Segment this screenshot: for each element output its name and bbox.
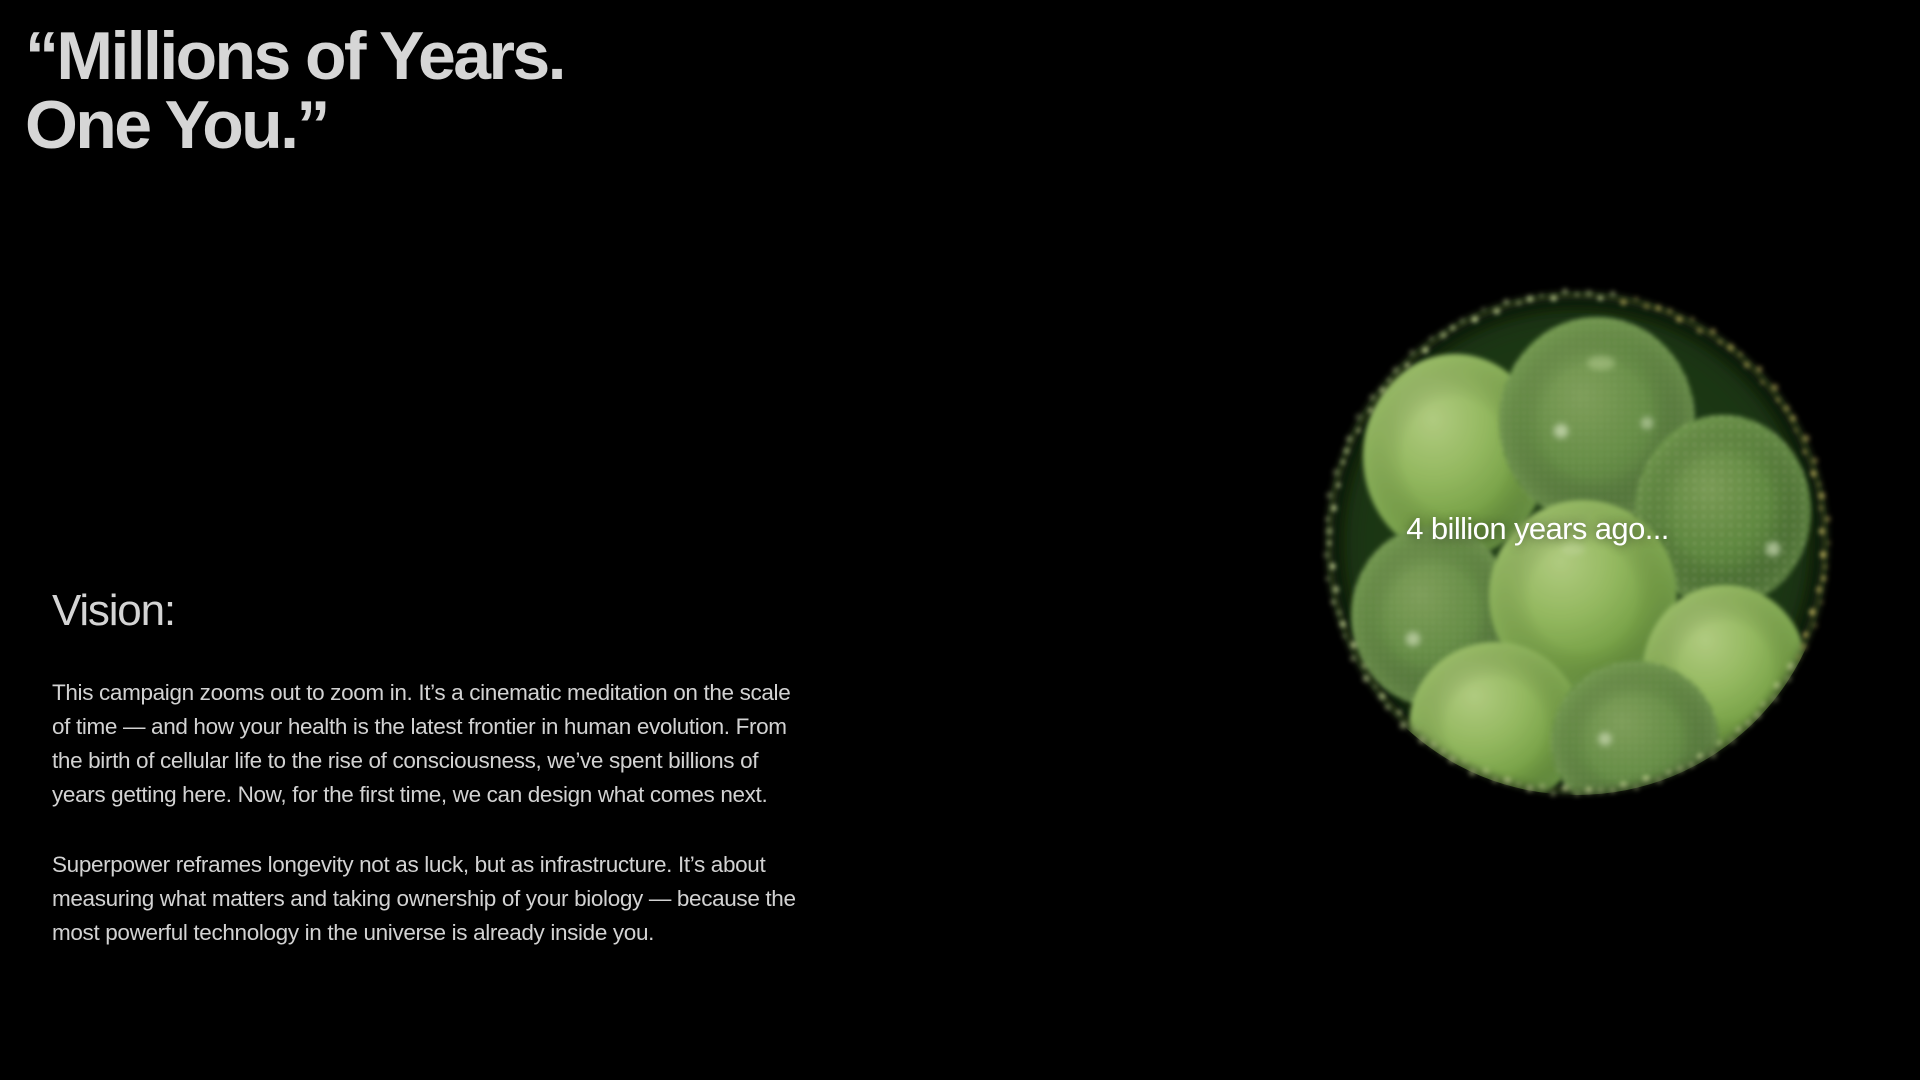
volvox-colony-image xyxy=(1305,271,1850,831)
vision-copy-block: Vision: This campaign zooms out to zoom … xyxy=(52,588,812,950)
volvox-colony-svg xyxy=(1305,271,1850,831)
vision-paragraph-2: Superpower reframes longevity not as luc… xyxy=(52,848,797,950)
vision-section-title: Vision: xyxy=(52,588,812,634)
page-title: “Millions of Years. One You.” xyxy=(25,22,925,161)
vision-paragraph-1: This campaign zooms out to zoom in. It’s… xyxy=(52,676,797,812)
slide-root: “Millions of Years. One You.” Vision: Th… xyxy=(0,0,1920,1080)
